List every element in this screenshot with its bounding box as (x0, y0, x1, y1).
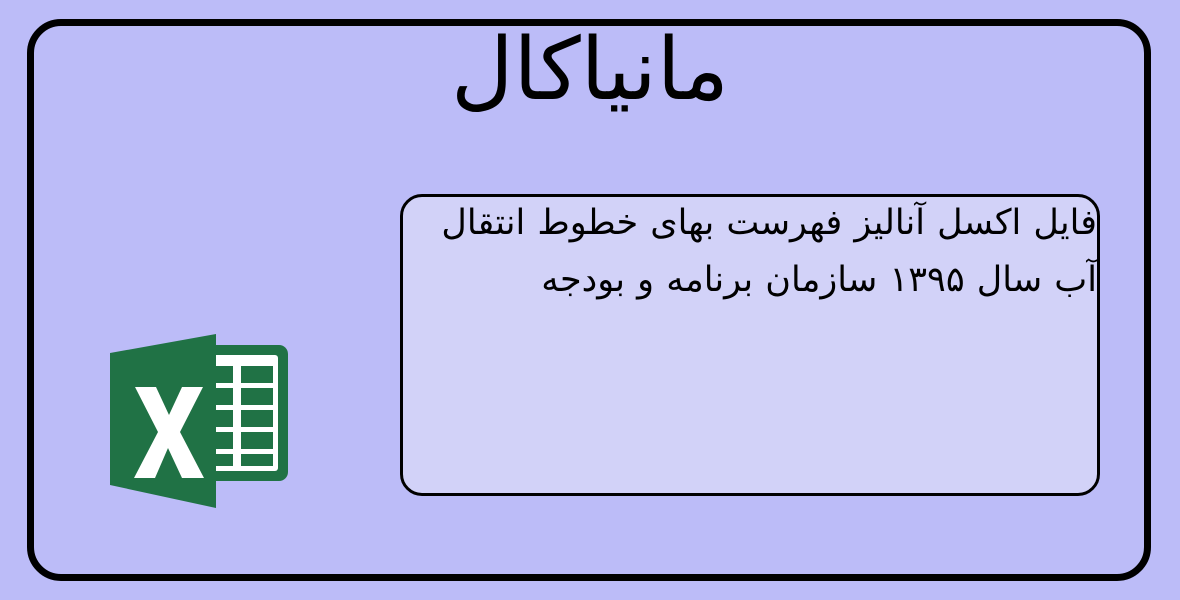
page-title: مانیاکال (0, 20, 1180, 121)
file-description-text: فایل اکسل آنالیز فهرست بهای خطوط انتقال … (400, 195, 1097, 308)
excel-file-icon (108, 331, 294, 511)
file-description-box: فایل اکسل آنالیز فهرست بهای خطوط انتقال … (400, 194, 1100, 496)
page-root: مانیاکال (0, 0, 1180, 600)
